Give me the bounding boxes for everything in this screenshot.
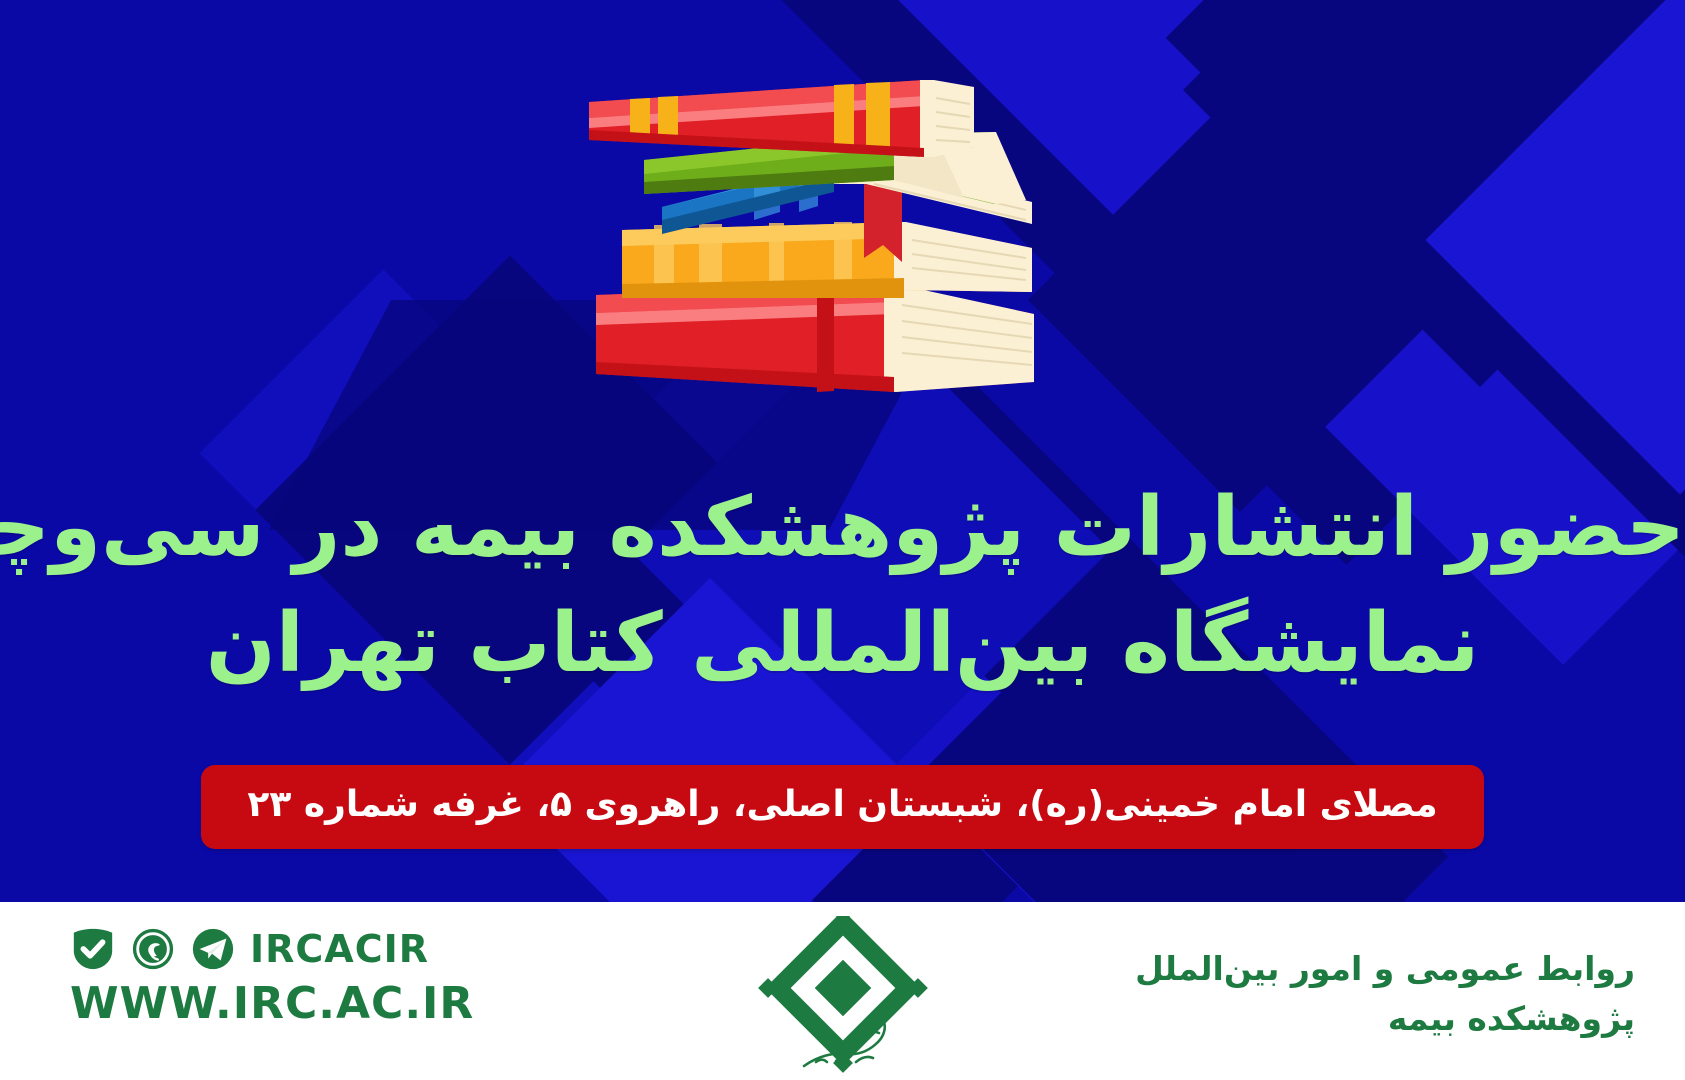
eitaa-icon[interactable] — [130, 926, 176, 972]
top-red-book — [589, 80, 974, 157]
title-line-1: حضور انتشارات پژوهشکده بیمه در سی‌وچهارم… — [0, 470, 1685, 586]
address-ribbon: مصلای امام خمینی(ره)، شبستان اصلی، راهرو… — [201, 765, 1483, 849]
bottom-red-book — [596, 284, 1034, 392]
institute-logo — [748, 916, 938, 1076]
poster-title: حضور انتشارات پژوهشکده بیمه در سی‌وچهارم… — [0, 470, 1685, 703]
poster-canvas: حضور انتشارات پژوهشکده بیمه در سی‌وچهارم… — [0, 0, 1685, 1080]
social-icons-row: IRCACIR — [70, 926, 474, 972]
yellow-book — [622, 222, 1032, 298]
title-line-2: نمایشگاه بین‌المللی کتاب تهران — [0, 586, 1685, 702]
address-ribbon-wrapper: مصلای امام خمینی(ره)، شبستان اصلی، راهرو… — [0, 765, 1685, 849]
department-line-2: پژوهشکده بیمه — [1135, 994, 1635, 1044]
telegram-icon[interactable] — [190, 926, 236, 972]
social-handle: IRCACIR — [250, 930, 429, 968]
stack-of-books-illustration — [534, 62, 1054, 402]
department-block: روابط عمومی و امور بین‌الملل پژوهشکده بی… — [1135, 944, 1635, 1043]
bale-icon[interactable] — [70, 926, 116, 972]
footer-social-block: IRCACIR WWW.IRC.AC.IR — [70, 926, 474, 1026]
department-line-1: روابط عمومی و امور بین‌الملل — [1135, 944, 1635, 994]
logo-diamond-mark — [748, 916, 938, 1076]
website-url[interactable]: WWW.IRC.AC.IR — [70, 982, 474, 1026]
footer-bar: IRCACIR WWW.IRC.AC.IR — [0, 902, 1685, 1080]
